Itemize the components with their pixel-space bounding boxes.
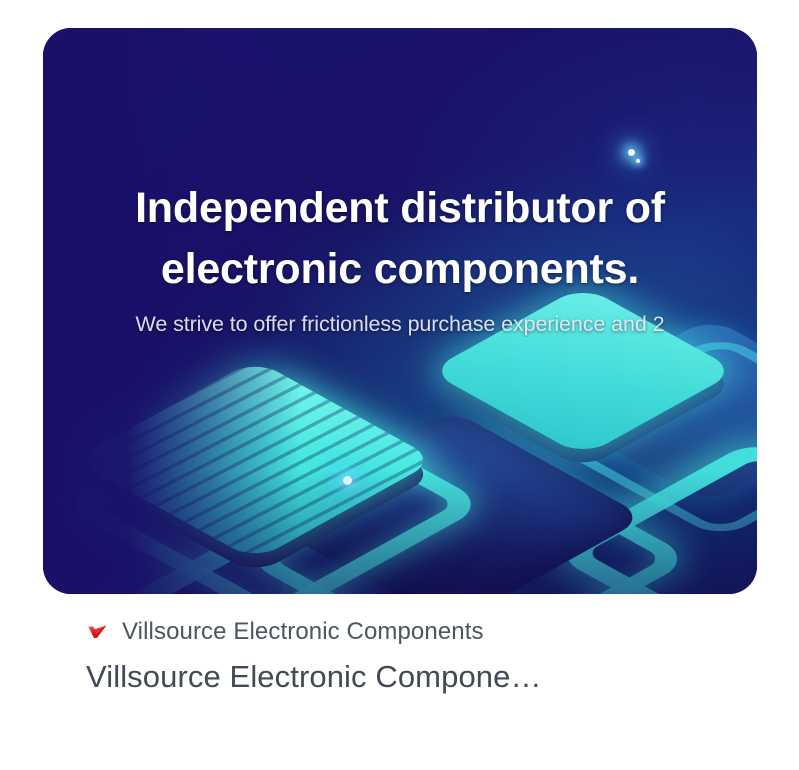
- source-site-name: Villsource Electronic Components: [122, 618, 484, 646]
- source-line[interactable]: Villsource Electronic Components: [43, 614, 757, 650]
- glow-dot-icon: [343, 476, 352, 485]
- villsource-v-logo-icon: [86, 621, 108, 643]
- chip-main-glowing-graphic: [155, 360, 355, 560]
- search-result-card[interactable]: Independent distributor of electronic co…: [0, 0, 799, 770]
- result-title[interactable]: Villsource Electronic Compone…: [43, 659, 757, 695]
- glow-dot-tertiary-icon: [636, 159, 640, 163]
- banner-image[interactable]: Independent distributor of electronic co…: [43, 28, 757, 594]
- glow-dot-secondary-icon: [628, 149, 635, 156]
- result-caption: Villsource Electronic Components Villsou…: [43, 614, 757, 695]
